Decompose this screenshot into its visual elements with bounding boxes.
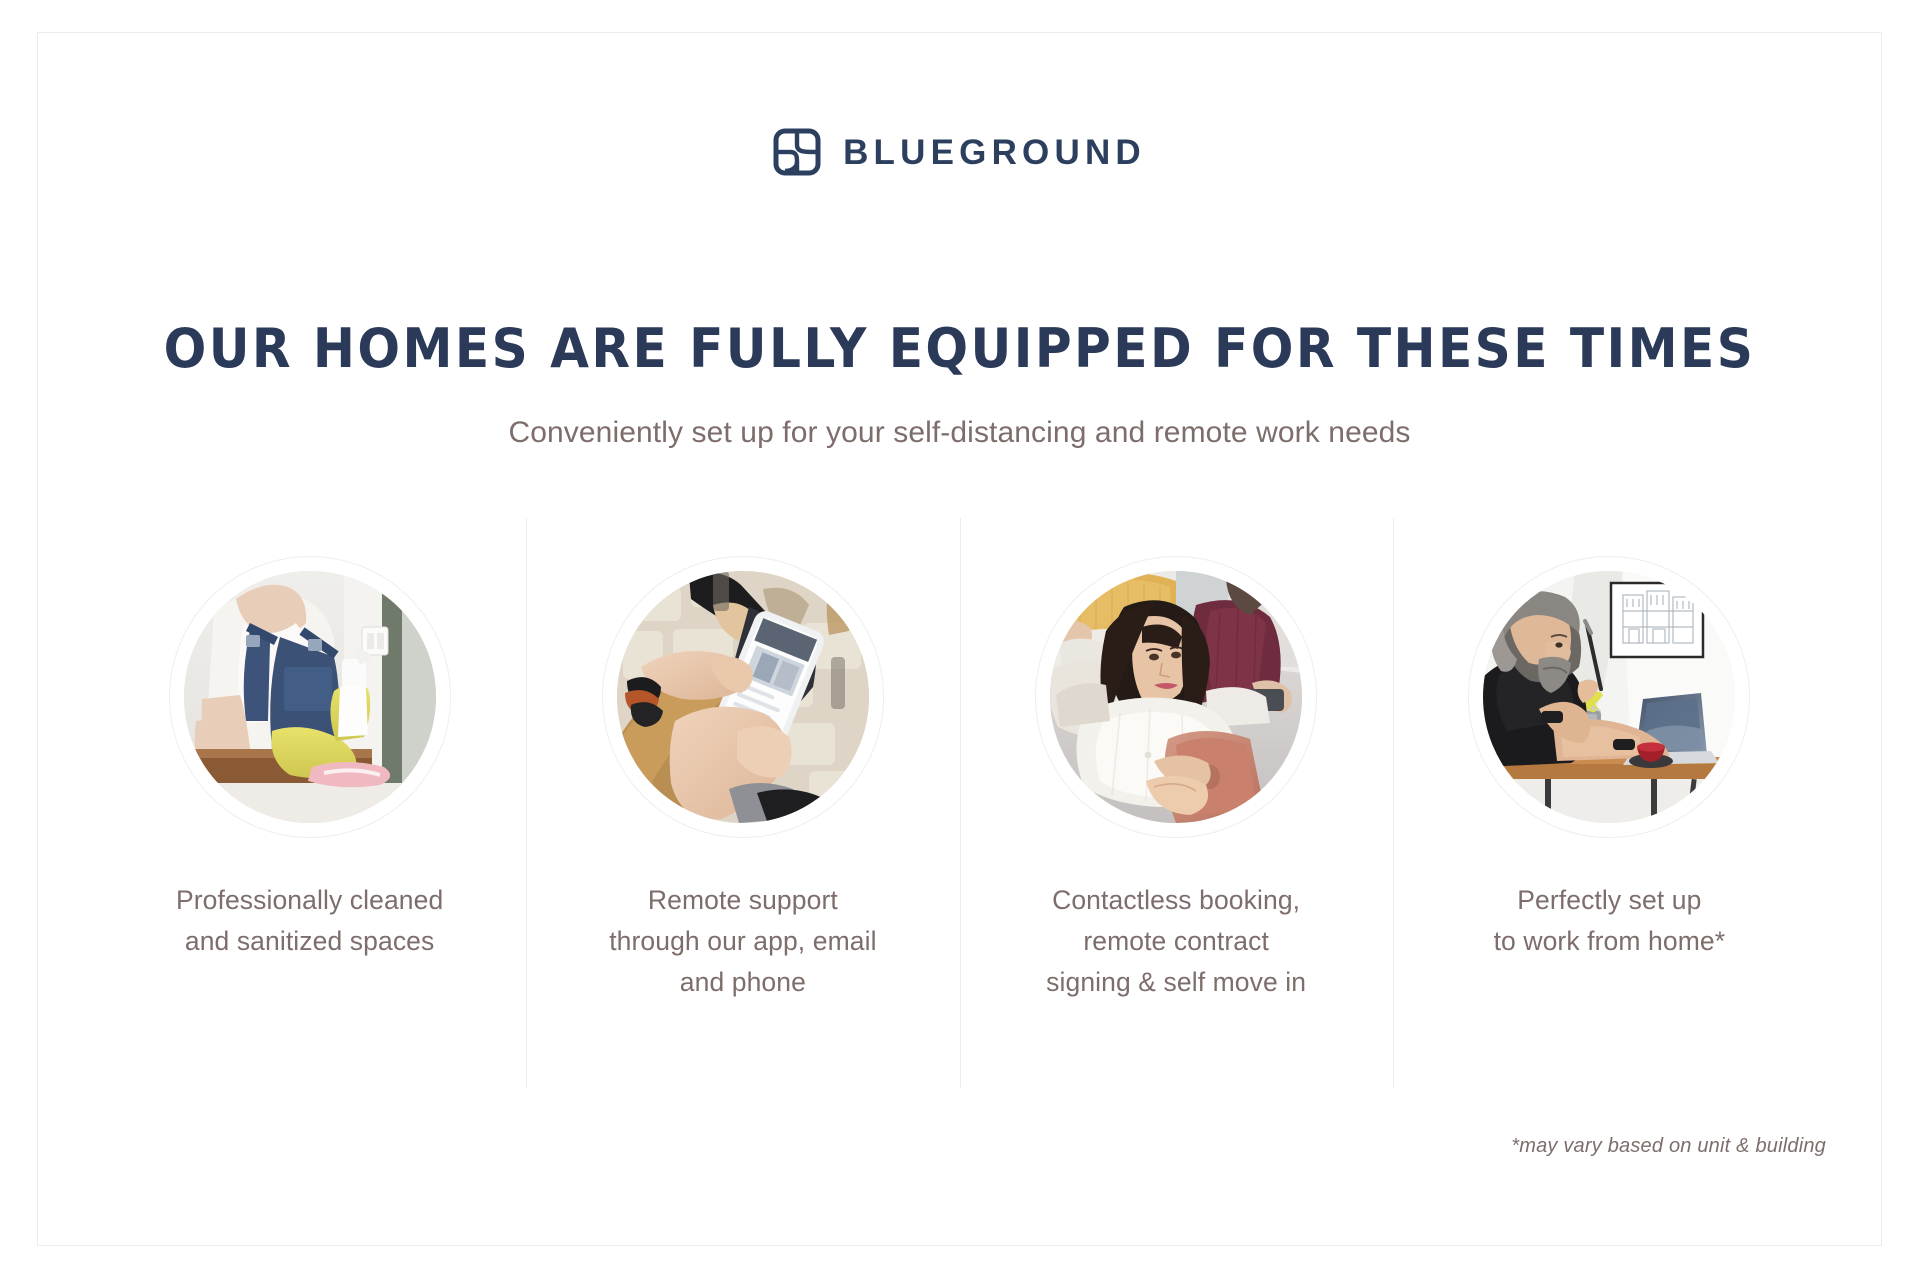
feature-caption: Contactless booking, remote contract sig… — [1046, 880, 1306, 1003]
caption-line: remote contract — [1046, 921, 1306, 962]
brand-header: BLUEGROUND — [38, 128, 1881, 176]
poster-canvas: BLUEGROUND OUR HOMES ARE FULLY EQUIPPED … — [37, 32, 1882, 1246]
feature-column-cleaning: Professionally cleaned and sanitized spa… — [93, 518, 526, 1088]
feature-image-ring — [1035, 556, 1317, 838]
blueground-square-logo-icon — [773, 128, 821, 176]
feature-caption: Perfectly set up to work from home* — [1494, 880, 1726, 962]
caption-line: and sanitized spaces — [176, 921, 443, 962]
caption-line: and phone — [609, 962, 876, 1003]
feature-caption: Professionally cleaned and sanitized spa… — [176, 880, 443, 962]
work-from-home-photo — [1483, 571, 1735, 823]
caption-line: Remote support — [609, 880, 876, 921]
caption-line: Professionally cleaned — [176, 880, 443, 921]
caption-line: Perfectly set up — [1494, 880, 1726, 921]
feature-column-work-from-home: Perfectly set up to work from home* — [1393, 518, 1826, 1088]
professional-cleaning-photo — [184, 571, 436, 823]
caption-line: to work from home* — [1494, 921, 1726, 962]
page-subtitle: Conveniently set up for your self-distan… — [38, 415, 1881, 451]
feature-image-ring — [602, 556, 884, 838]
feature-image-ring — [1468, 556, 1750, 838]
brand-wordmark: BLUEGROUND — [843, 135, 1146, 170]
caption-line: Contactless booking, — [1046, 880, 1306, 921]
footnote-disclaimer: *may vary based on unit & building — [1511, 1135, 1826, 1158]
page-title: OUR HOMES ARE FULLY EQUIPPED FOR THESE T… — [103, 321, 1817, 378]
feature-grid: Professionally cleaned and sanitized spa… — [93, 518, 1826, 1088]
remote-support-photo — [617, 571, 869, 823]
feature-image-ring — [169, 556, 451, 838]
feature-column-remote-support: Remote support through our app, email an… — [526, 518, 959, 1088]
feature-column-contactless-booking: Contactless booking, remote contract sig… — [960, 518, 1393, 1088]
caption-line: through our app, email — [609, 921, 876, 962]
feature-caption: Remote support through our app, email an… — [609, 880, 876, 1003]
contactless-booking-photo — [1050, 571, 1302, 823]
caption-line: signing & self move in — [1046, 962, 1306, 1003]
